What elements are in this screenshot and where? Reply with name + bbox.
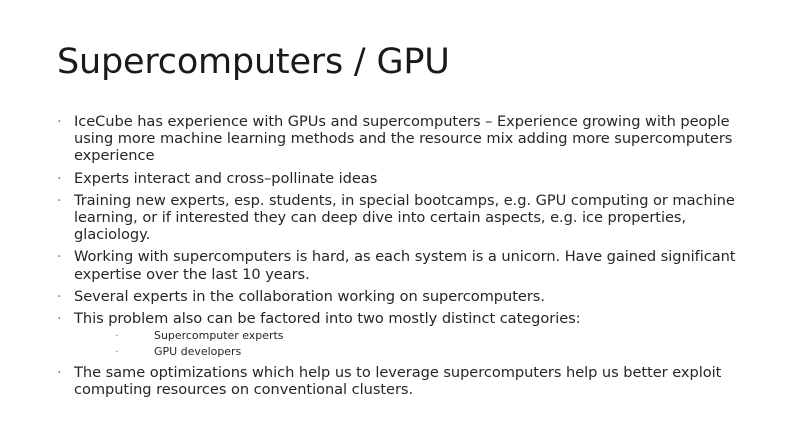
sub-bullet-list: · Supercomputer experts · GPU developers bbox=[74, 328, 752, 359]
list-item: · Several experts in the collaboration w… bbox=[52, 288, 752, 305]
bullet-dot-icon: · bbox=[57, 364, 62, 381]
bullet-dot-icon: · bbox=[57, 248, 62, 265]
bullet-list: · IceCube has experience with GPUs and s… bbox=[52, 113, 752, 399]
slide-body: · IceCube has experience with GPUs and s… bbox=[52, 113, 752, 404]
bullet-text: Training new experts, esp. students, in … bbox=[74, 192, 752, 244]
list-item: · Working with supercomputers is hard, a… bbox=[52, 248, 752, 282]
list-item: · The same optimizations which help us t… bbox=[52, 364, 752, 398]
bullet-text: This problem also can be factored into t… bbox=[74, 310, 752, 327]
list-item: · Experts interact and cross–pollinate i… bbox=[52, 170, 752, 187]
list-item: · IceCube has experience with GPUs and s… bbox=[52, 113, 752, 165]
bullet-text: Working with supercomputers is hard, as … bbox=[74, 248, 752, 282]
bullet-dot-icon: · bbox=[57, 113, 62, 130]
sub-list-item: · Supercomputer experts bbox=[74, 328, 752, 343]
bullet-dot-icon: · bbox=[57, 310, 62, 327]
sub-bullet-text: Supercomputer experts bbox=[154, 328, 752, 343]
bullet-dot-icon: · bbox=[57, 170, 62, 187]
bullet-dot-icon: · bbox=[57, 192, 62, 209]
bullet-text: IceCube has experience with GPUs and sup… bbox=[74, 113, 752, 165]
bullet-text: Several experts in the collaboration wor… bbox=[74, 288, 752, 305]
sub-list-item: · GPU developers bbox=[74, 344, 752, 359]
page-title: Supercomputers / GPU bbox=[57, 41, 450, 83]
bullet-dot-icon: · bbox=[115, 328, 118, 343]
slide: Supercomputers / GPU · IceCube has exper… bbox=[0, 0, 798, 448]
bullet-dot-icon: · bbox=[57, 288, 62, 305]
bullet-dot-icon: · bbox=[115, 344, 118, 359]
bullet-text: Experts interact and cross–pollinate ide… bbox=[74, 170, 752, 187]
sub-bullet-text: GPU developers bbox=[154, 344, 752, 359]
bullet-text: The same optimizations which help us to … bbox=[74, 364, 752, 398]
list-item: · This problem also can be factored into… bbox=[52, 310, 752, 359]
list-item: · Training new experts, esp. students, i… bbox=[52, 192, 752, 244]
